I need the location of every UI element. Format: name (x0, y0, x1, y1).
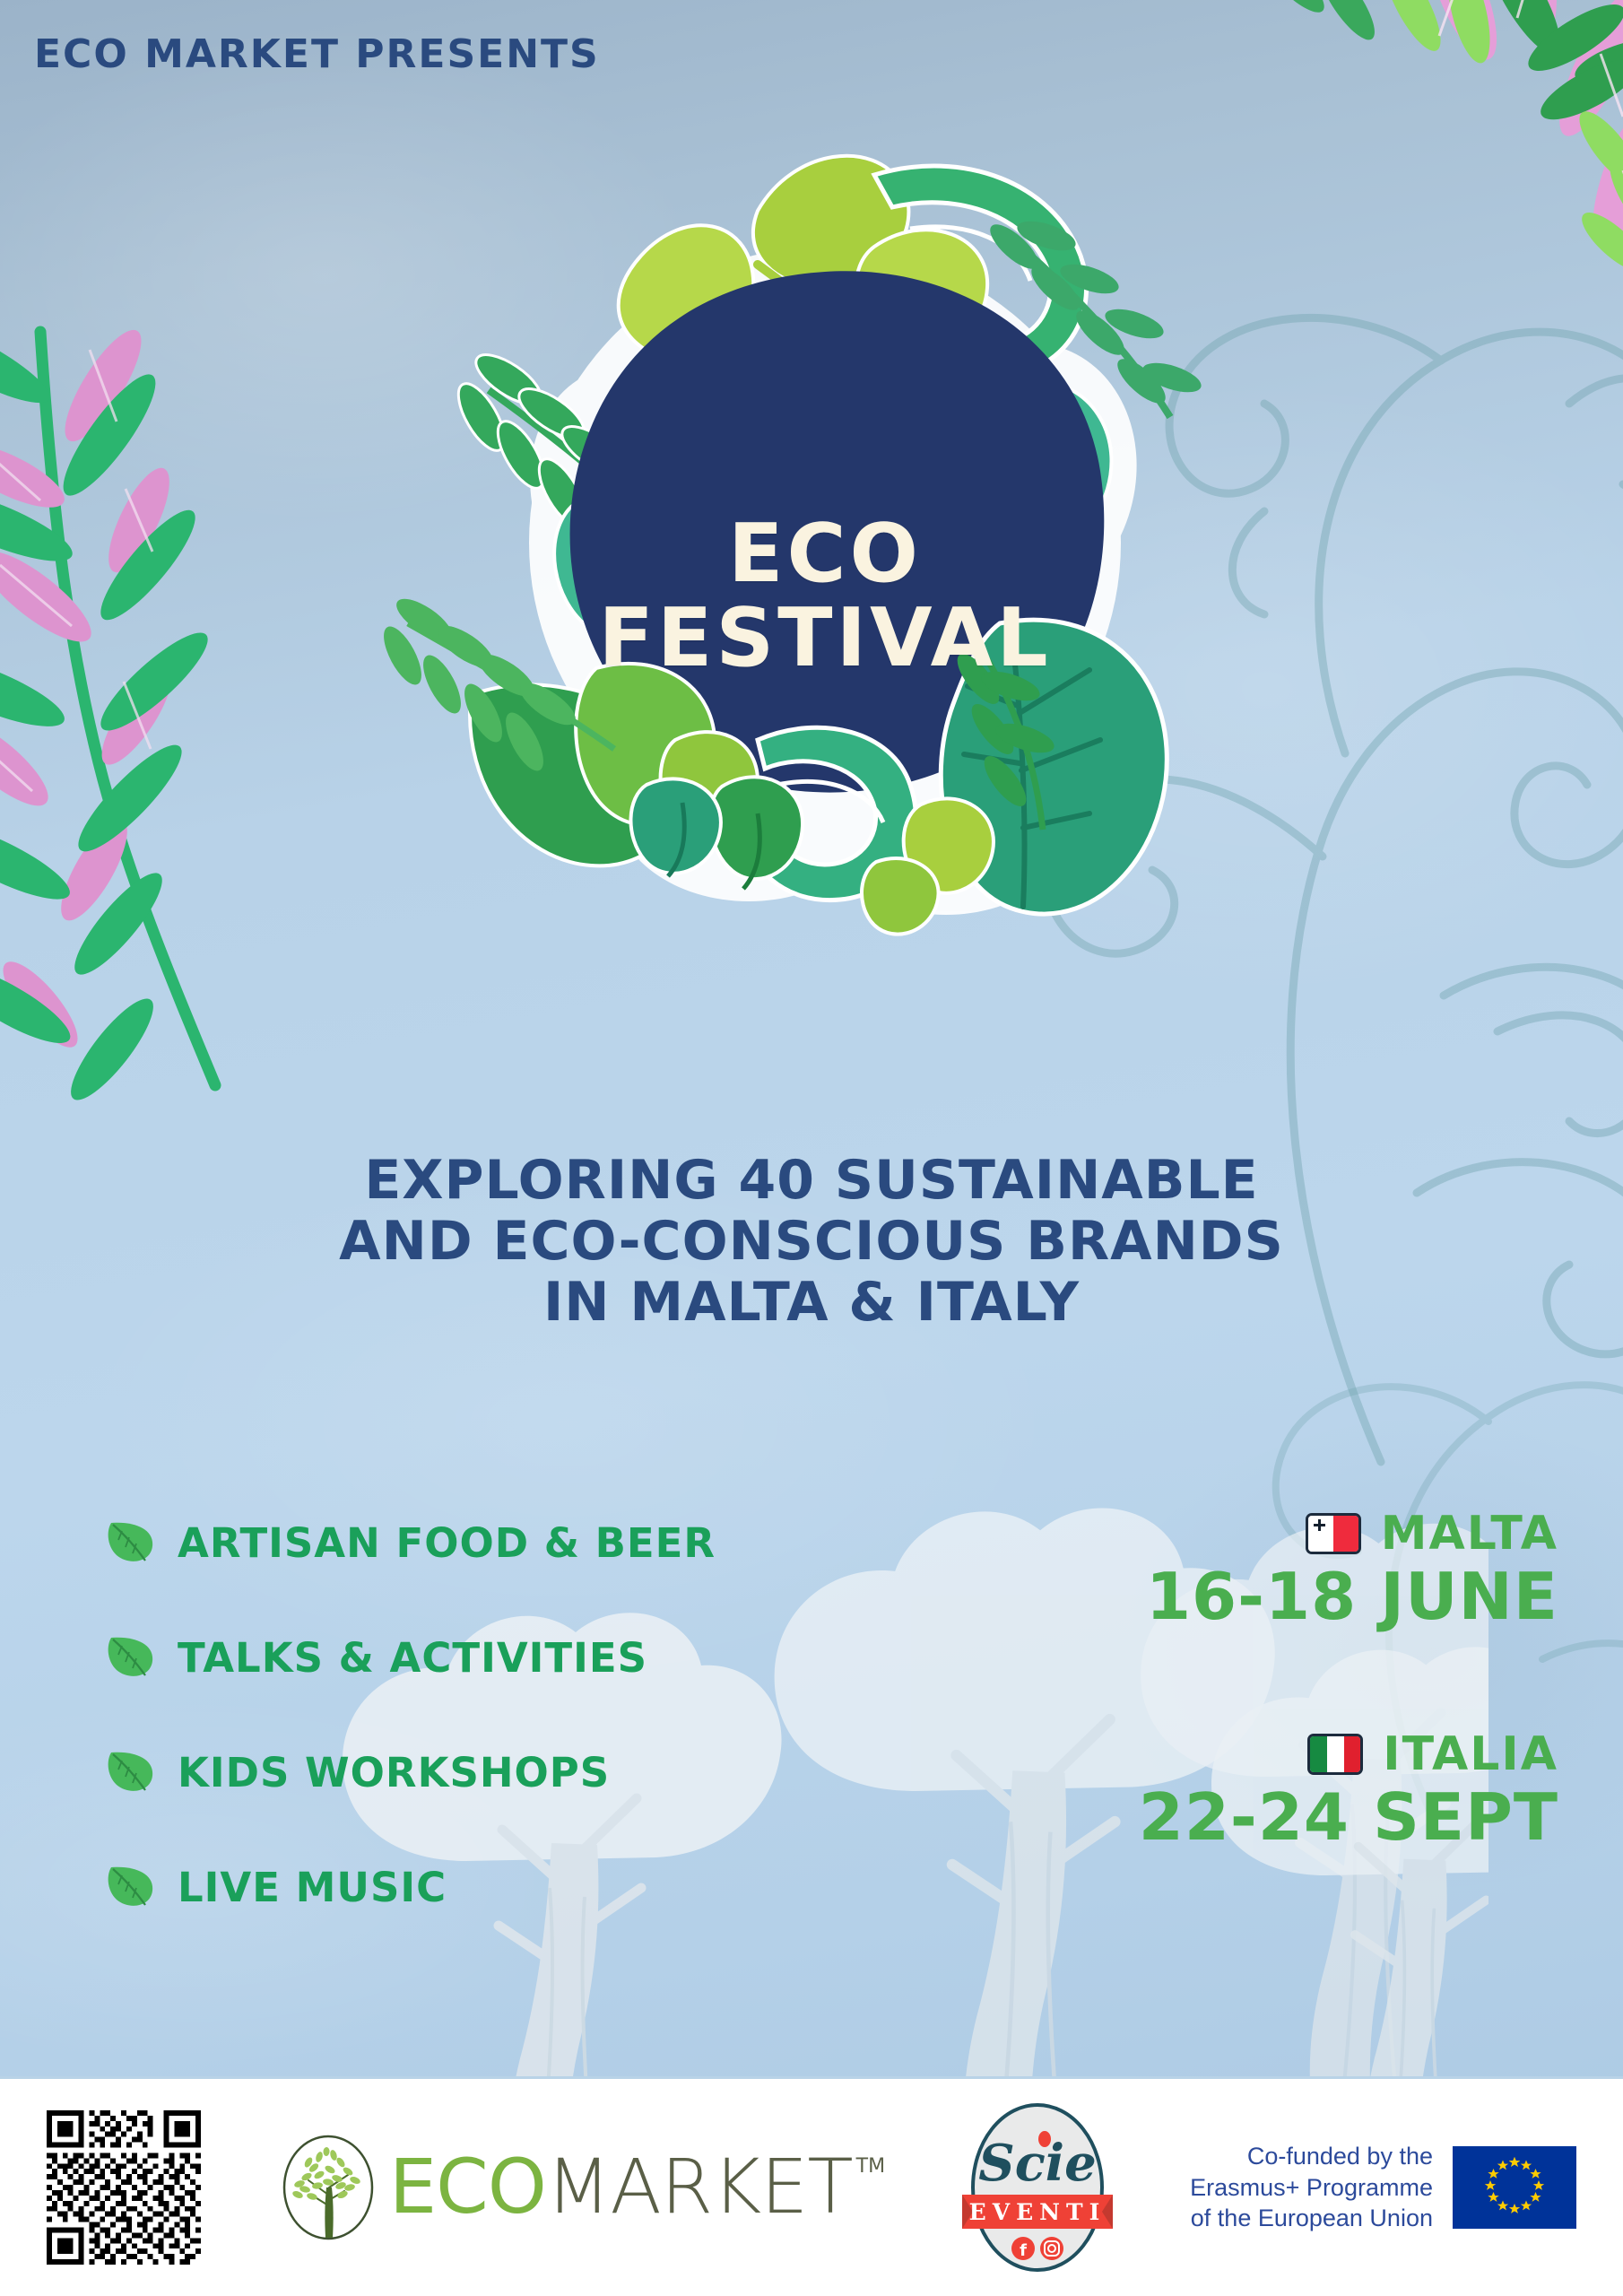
eu-text-line-3: of the European Union (1190, 2203, 1433, 2234)
eu-cofunding-block: Co-funded by the Erasmus+ Programme of t… (1190, 2141, 1576, 2234)
date-head: MALTA (1074, 1507, 1558, 1561)
corner-foliage-top-right-decoration (1237, 0, 1623, 332)
eu-text-line-2: Erasmus+ Programme (1190, 2172, 1433, 2204)
dates-block: MALTA 16-18 JUNE ITALIA 22-24 SEPT (1074, 1507, 1558, 1948)
leaf-icon (106, 1749, 158, 1796)
feature-label: KIDS WORKSHOPS (178, 1749, 610, 1796)
leaf-icon (106, 1519, 158, 1566)
date-value: 22-24 SEPT (1074, 1785, 1558, 1849)
feature-item: TALKS & ACTIVITIES (106, 1631, 823, 1684)
eventi-ribbon: EVENTI (962, 2195, 1113, 2229)
subtitle-line-3: IN MALTA & ITALY (0, 1273, 1623, 1334)
feature-item: LIVE MUSIC (106, 1860, 823, 1914)
poster-root: ECO FESTIVAL ECO MARKET PRESENTS EXPLORI… (0, 0, 1623, 2296)
date-entry-malta: MALTA 16-18 JUNE (1074, 1507, 1558, 1629)
leaf-icon (106, 1634, 158, 1681)
date-value: 16-18 JUNE (1074, 1564, 1558, 1629)
feature-label: ARTISAN FOOD & BEER (178, 1519, 716, 1567)
ecomarket-logo[interactable]: ECO MARKET TM (278, 2132, 885, 2244)
eu-text-line-1: Co-funded by the (1190, 2141, 1433, 2172)
date-head: ITALIA (1074, 1727, 1558, 1781)
subtitle-line-2: AND ECO-CONSCIOUS BRANDS (0, 1212, 1623, 1273)
leaf-icon (106, 1864, 158, 1910)
date-entry-italia: ITALIA 22-24 SEPT (1074, 1727, 1558, 1849)
presents-headline: ECO MARKET PRESENTS (34, 31, 600, 77)
scie-dot-accent (1038, 2131, 1051, 2147)
svg-text:f: f (1020, 2241, 1027, 2260)
instagram-icon (1040, 2237, 1063, 2260)
eu-cofunding-text: Co-funded by the Erasmus+ Programme of t… (1190, 2141, 1433, 2234)
footer-sponsor-bar: ECO MARKET TM Scie EVENTI f (0, 2076, 1623, 2296)
ecomarket-wordmark: ECO MARKET TM (389, 2153, 885, 2222)
malta-flag-icon (1306, 1513, 1361, 1554)
tree-in-circle-icon (278, 2132, 378, 2244)
feature-item: ARTISAN FOOD & BEER (106, 1516, 823, 1570)
festival-logo-emblem: ECO FESTIVAL (372, 121, 1278, 1036)
country-label: MALTA (1381, 1507, 1558, 1561)
eventi-banner-text: EVENTI (969, 2199, 1107, 2225)
feature-label: TALKS & ACTIVITIES (178, 1634, 647, 1682)
eu-flag-icon (1453, 2146, 1576, 2229)
feature-label: LIVE MUSIC (178, 1864, 447, 1911)
subtitle-block: EXPLORING 40 SUSTAINABLE AND ECO-CONSCIO… (0, 1151, 1623, 1333)
trademark-label: TM (856, 2155, 885, 2178)
italy-flag-icon (1307, 1734, 1363, 1775)
scie-wordmark-text: Scie (978, 2134, 1096, 2193)
country-label: ITALIA (1383, 1727, 1558, 1781)
subtitle-line-1: EXPLORING 40 SUSTAINABLE (0, 1151, 1623, 1212)
ecomarket-market-text: MARKET (546, 2153, 853, 2222)
features-list: ARTISAN FOOD & BEER TALKS & ACTIVITIES K… (106, 1516, 823, 1975)
qr-code-icon[interactable] (47, 2110, 201, 2265)
ecomarket-eco-text: ECO (389, 2153, 546, 2222)
scie-eventi-logo[interactable]: Scie EVENTI f (962, 2098, 1113, 2277)
feature-item: KIDS WORKSHOPS (106, 1745, 823, 1799)
left-vine-decoration (0, 296, 242, 1103)
